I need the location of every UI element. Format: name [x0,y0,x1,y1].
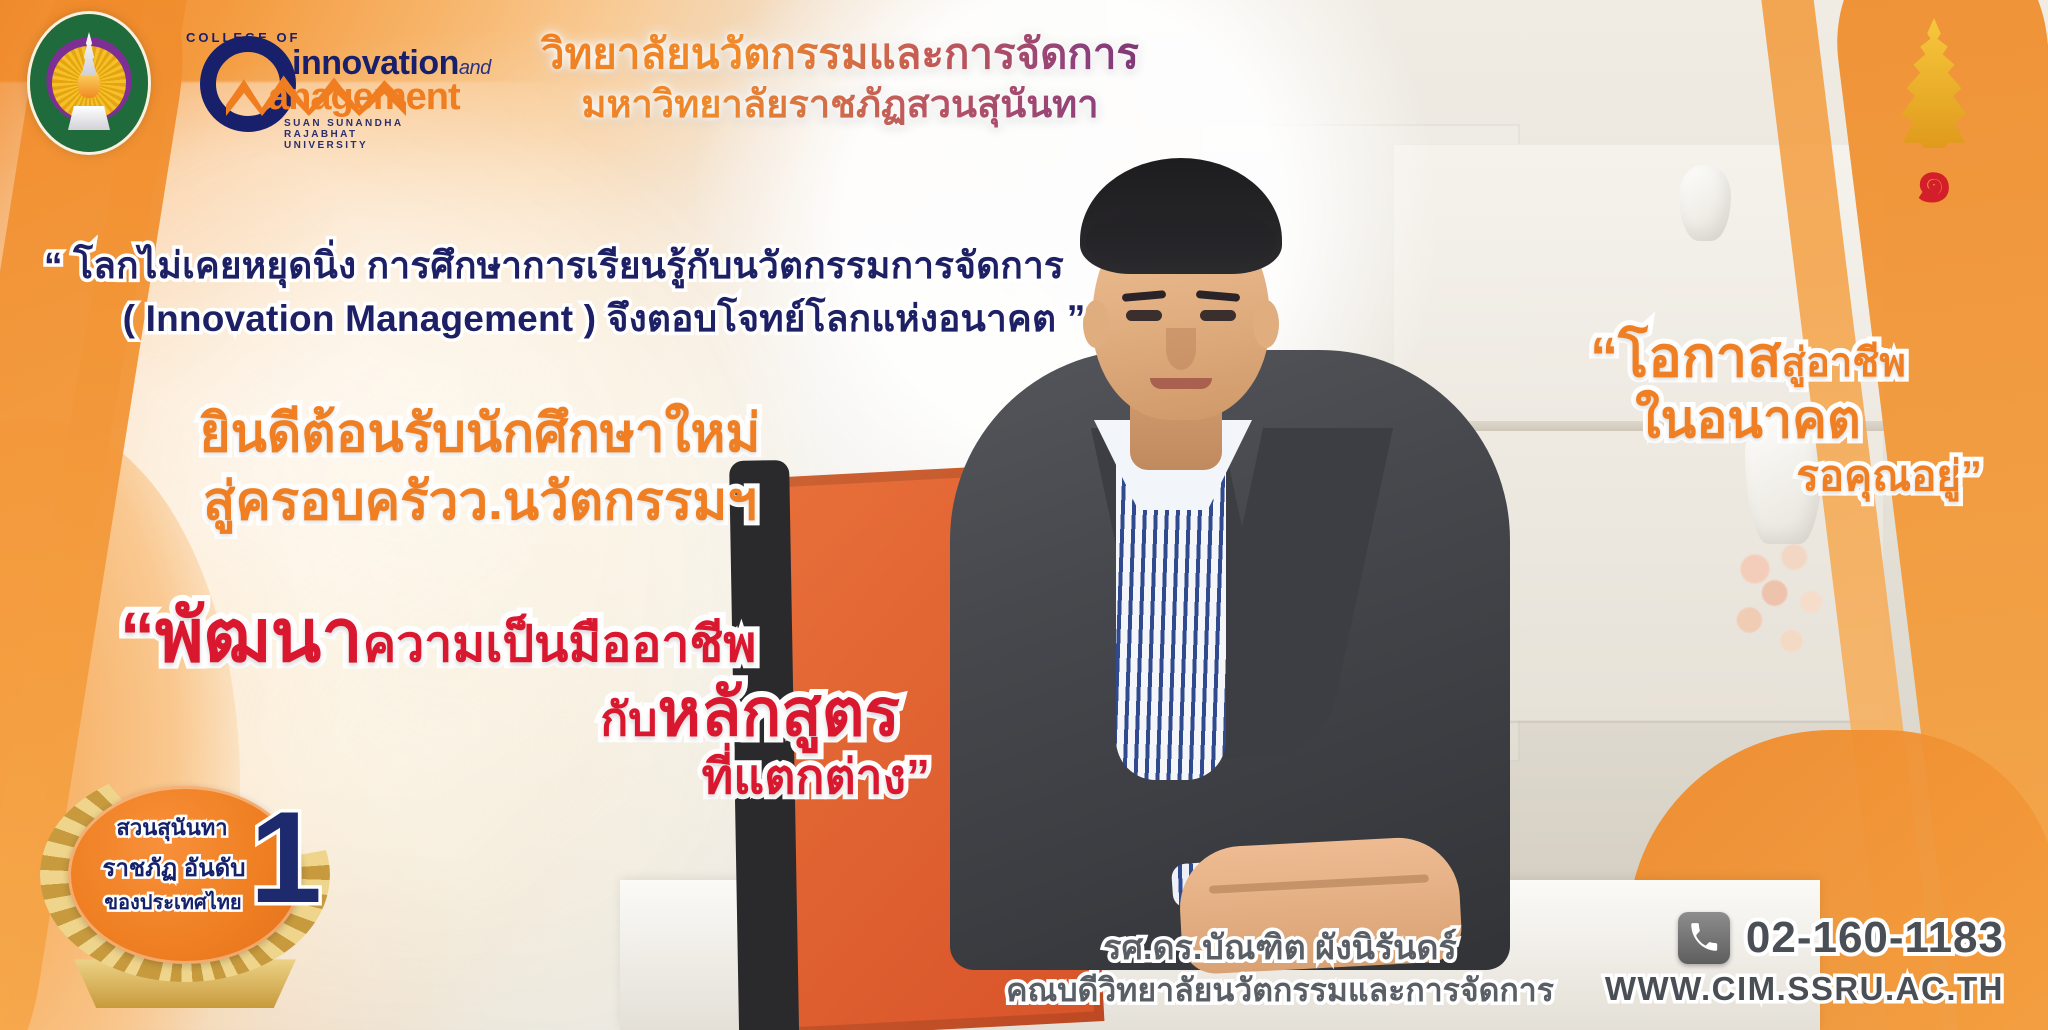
logo-management-text: anagement [268,76,460,119]
develop-line-1-big: พัฒนา [155,594,363,677]
develop-line-1-small: ความเป็นมืออาชีพ [363,616,757,672]
ranking-badge: สวนสุนันทา ราชภัฏ อันดับ ของประเทศไทย 1 [30,762,340,1002]
dean-portrait-photo [880,0,1560,1030]
develop-close-mark: ” [906,751,930,804]
opportunity-line-1-big: โอกาส [1618,325,1781,388]
opportunity-line-1-small: สู่อาชีพ [1781,341,1905,385]
quote-line-1-text: โลกไม่เคยหยุดนิ่ง การศึกษาการเรียนรู้กับ… [73,245,1064,286]
phone-icon [1678,912,1730,964]
decorative-vase [1679,165,1731,241]
develop-line-1: “พัฒนาความเป็นมืออาชีพ [120,595,940,676]
badge-line-1: สวนสุนันทา [82,810,262,845]
eyebrow-right [1196,290,1241,302]
dean-caption: รศ.ดร.บัณฑิต ผังนิรันดร์ คณบดีวิทยาลัยนว… [900,926,1660,1012]
emblem-crown-icon [1891,18,1977,148]
opportunity-line-3-text: รอคุณอยู่ [1796,452,1961,499]
badge-line-2: ราชภัฏ อันดับ [74,848,274,887]
ear-right [1253,300,1279,348]
promotional-banner: COLLEGE OF innovationand anagement SUAN … [0,0,2048,1030]
quote-open-mark: “ [44,245,63,286]
opportunity-close-mark: ” [1961,452,1982,499]
contact-info: 02-160-1183 WWW.CIM.SSRU.AC.TH [1605,912,2004,1008]
title-line-1: วิทยาลัยนวัตกรรมและการจัดการ [520,28,1160,81]
quote-close-mark: ” [1067,298,1086,339]
phone-number[interactable]: 02-160-1183 [1746,913,2004,963]
eye-right [1200,310,1236,321]
dean-title: คณบดีวิทยาลัยนวัตกรรมและการจัดการ [900,970,1660,1012]
opportunity-line-3: รอคุณอยู่” [1488,451,2008,501]
welcome-line-2: สู่ครอบครัวว.นวัตกรรมฯ [0,468,960,536]
opportunity-line-1: “โอกาสสู่อาชีพ [1488,325,2008,390]
opportunity-line-2: ในอนาคต [1488,390,2008,451]
nose [1166,328,1196,370]
headline-quote: “ โลกไม่เคยหยุดนิ่ง การศึกษาการเรียนรู้ก… [44,240,1164,345]
mouth [1150,378,1212,389]
badge-line-3: ของประเทศไทย [78,886,268,918]
badge-rank-number: 1 [250,792,322,922]
quote-line-1: “ โลกไม่เคยหยุดนิ่ง การศึกษาการเรียนรู้ก… [44,240,1164,293]
phone-row: 02-160-1183 [1605,912,2004,964]
welcome-line-1: ยินดีต้อนรับนักศึกษาใหม่ [0,400,960,468]
seal-base [68,106,110,130]
cim-logo: COLLEGE OF innovationand anagement SUAN … [164,28,442,138]
logo-university-text: SUAN SUNANDHA RAJABHAT UNIVERSITY [284,118,442,151]
logo-and-word: and [459,57,491,79]
logo-group: COLLEGE OF innovationand anagement SUAN … [30,14,442,152]
quote-line-2: ( Innovation Management ) จึงตอบโจทย์โลก… [44,293,1164,346]
welcome-message: ยินดีต้อนรับนักศึกษาใหม่ สู่ครอบครัวว.นว… [0,400,960,536]
quote-line-2-text: ( Innovation Management ) จึงตอบโจทย์โลก… [123,298,1057,339]
thai-royal-emblem-icon: ๑ [1864,18,2004,218]
develop-line-2: กับหลักสูตร [120,676,940,750]
opportunity-slogan: “โอกาสสู่อาชีพ ในอนาคต รอคุณอยู่” [1488,325,2008,502]
develop-line-3-text: ที่แตกต่าง [702,751,906,804]
page-title: วิทยาลัยนวัตกรรมและการจัดการ มหาวิทยาลัย… [520,28,1160,130]
opportunity-open-mark: “ [1590,325,1618,388]
ssru-seal-icon [30,14,148,152]
develop-line-2-small: กับ [600,693,657,745]
dean-name: รศ.ดร.บัณฑิต ผังนิรันดร์ [900,926,1660,970]
emblem-thai-numeral: ๑ [1914,150,1953,212]
title-line-2: มหาวิทยาลัยราชภัฏสวนสุนันทา [520,81,1160,130]
develop-line-2-big: หลักสูตร [657,675,900,749]
website-url[interactable]: WWW.CIM.SSRU.AC.TH [1605,970,2004,1008]
develop-open-mark: “ [120,598,155,676]
